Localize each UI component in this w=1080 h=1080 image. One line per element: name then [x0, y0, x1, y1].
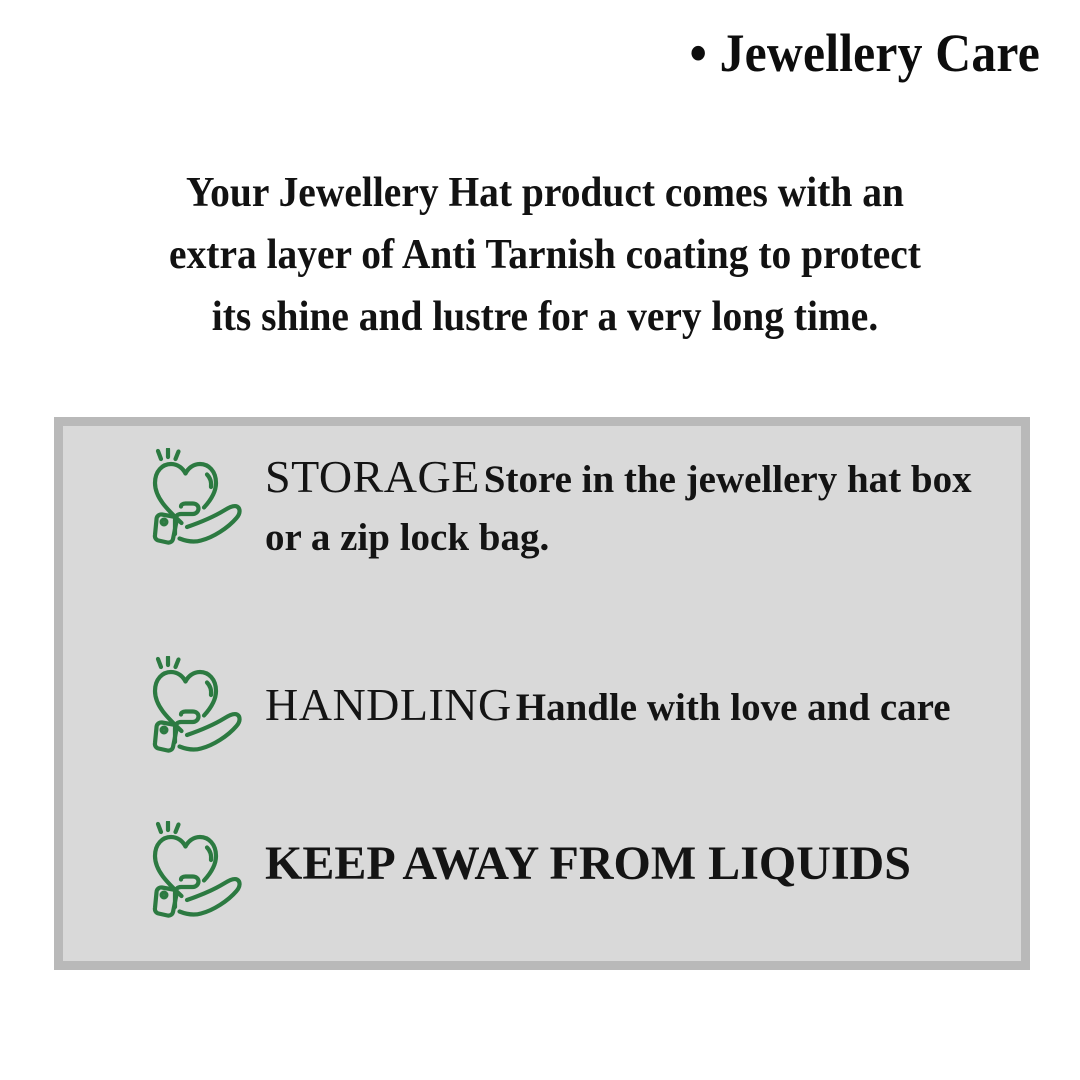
care-item-storage: STORAGE Store in the jewellery hat box o…: [147, 448, 1021, 567]
intro-line-3: its shine and lustre for a very long tim…: [108, 286, 982, 348]
intro-paragraph: Your Jewellery Hat product comes with an…: [108, 162, 982, 348]
care-item-heading: KEEP AWAY FROM LIQUIDS: [265, 837, 911, 890]
care-item-line-2: or a zip lock bag.: [265, 516, 549, 559]
care-item-heading: HANDLING: [265, 679, 512, 730]
care-item-keep-away-from-liquids: KEEP AWAY FROM LIQUIDS: [147, 821, 911, 921]
intro-line-1: Your Jewellery Hat product comes with an: [108, 162, 982, 224]
care-item-handling: HANDLING Handle with love and care: [147, 656, 951, 756]
care-item-line-1: Handle with love and care: [516, 686, 951, 729]
hand-holding-heart-icon: [147, 656, 251, 756]
care-item-text: HANDLING Handle with love and care: [265, 656, 951, 737]
hand-holding-heart-icon: [147, 448, 251, 548]
page-title-row: • Jewellery Care: [0, 26, 1040, 80]
care-instructions-panel: STORAGE Store in the jewellery hat box o…: [54, 417, 1030, 970]
care-item-heading: STORAGE: [265, 451, 480, 502]
care-item-line-1: Store in the jewellery hat box: [484, 458, 972, 501]
page-title: • Jewellery Care: [690, 26, 1040, 80]
care-item-text: KEEP AWAY FROM LIQUIDS: [265, 821, 911, 891]
intro-line-2: extra layer of Anti Tarnish coating to p…: [108, 224, 982, 286]
hand-holding-heart-icon: [147, 821, 251, 921]
care-item-text: STORAGE Store in the jewellery hat box o…: [265, 448, 1021, 567]
care-instructions-list: STORAGE Store in the jewellery hat box o…: [63, 426, 1021, 961]
